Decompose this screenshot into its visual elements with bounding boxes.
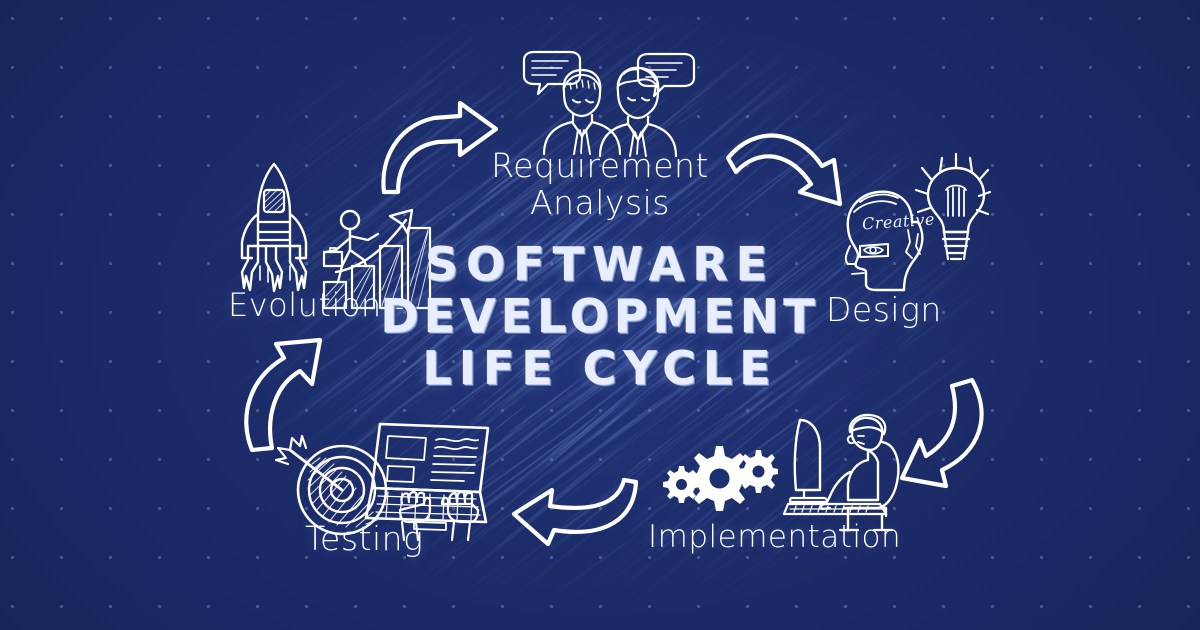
stage-label-evolution: Evolution: [228, 288, 382, 324]
programmer-at-desk-icon: [782, 414, 922, 534]
requirement-label-line-2: Analysis: [430, 185, 770, 222]
requirement-label-line-1: Requirement: [430, 148, 770, 185]
stage-label-testing: Testing: [305, 521, 423, 558]
stage-label-requirement-analysis: Requirement Analysis: [430, 148, 770, 222]
rocket-icon: [238, 162, 310, 292]
stage-label-implementation: Implementation: [648, 520, 901, 555]
gears-icon: [668, 440, 778, 518]
arrow-implementation-to-testing: [498, 468, 643, 552]
two-people-speech-bubbles-icon: [518, 48, 698, 158]
sdlc-poster: Creative: [0, 0, 1200, 630]
stage-label-design: Design: [826, 292, 942, 329]
